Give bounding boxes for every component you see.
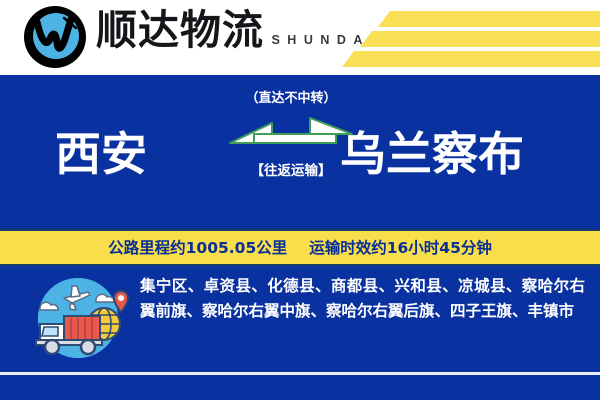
logistics-truck-globe-icon <box>26 276 130 360</box>
banner-header: 顺达物流 SHUNDAWULIU <box>0 0 600 75</box>
coverage-areas-text: 集宁区、卓资县、化德县、商都县、兴和县、凉城县、察哈尔右翼前旗、察哈尔右翼中旗、… <box>140 274 585 324</box>
banner-footer <box>0 375 600 400</box>
brand-name-cn: 顺达物流 <box>96 6 264 54</box>
speed-stripes-graphic <box>300 0 600 75</box>
circle-swoosh-logo-icon <box>24 6 86 68</box>
destination-city: 乌兰察布 <box>340 128 524 180</box>
route-arrow-block: （直达不中转） 【往返运输】 <box>228 91 354 201</box>
distance-text: 公路里程约1005.05公里 <box>108 238 287 258</box>
shipping-route-banner: 顺达物流 SHUNDAWULIU 西安 （直达不中转） 【 <box>0 0 600 400</box>
duration-text: 运输时效约16小时45分钟 <box>309 238 492 258</box>
roundtrip-tag: 【往返运输】 <box>228 163 354 180</box>
coverage-section: 集宁区、卓资县、化德县、商都县、兴和县、凉城县、察哈尔右翼前旗、察哈尔右翼中旗、… <box>0 266 600 373</box>
direct-shipping-tag: （直达不中转） <box>228 91 354 107</box>
origin-city: 西安 <box>55 128 147 180</box>
bidirectional-arrow-icon <box>228 117 354 157</box>
shipping-info-band: 公路里程约1005.05公里 运输时效约16小时45分钟 <box>0 231 600 264</box>
route-section: 西安 （直达不中转） 【往返运输】 乌兰察布 <box>0 75 600 232</box>
